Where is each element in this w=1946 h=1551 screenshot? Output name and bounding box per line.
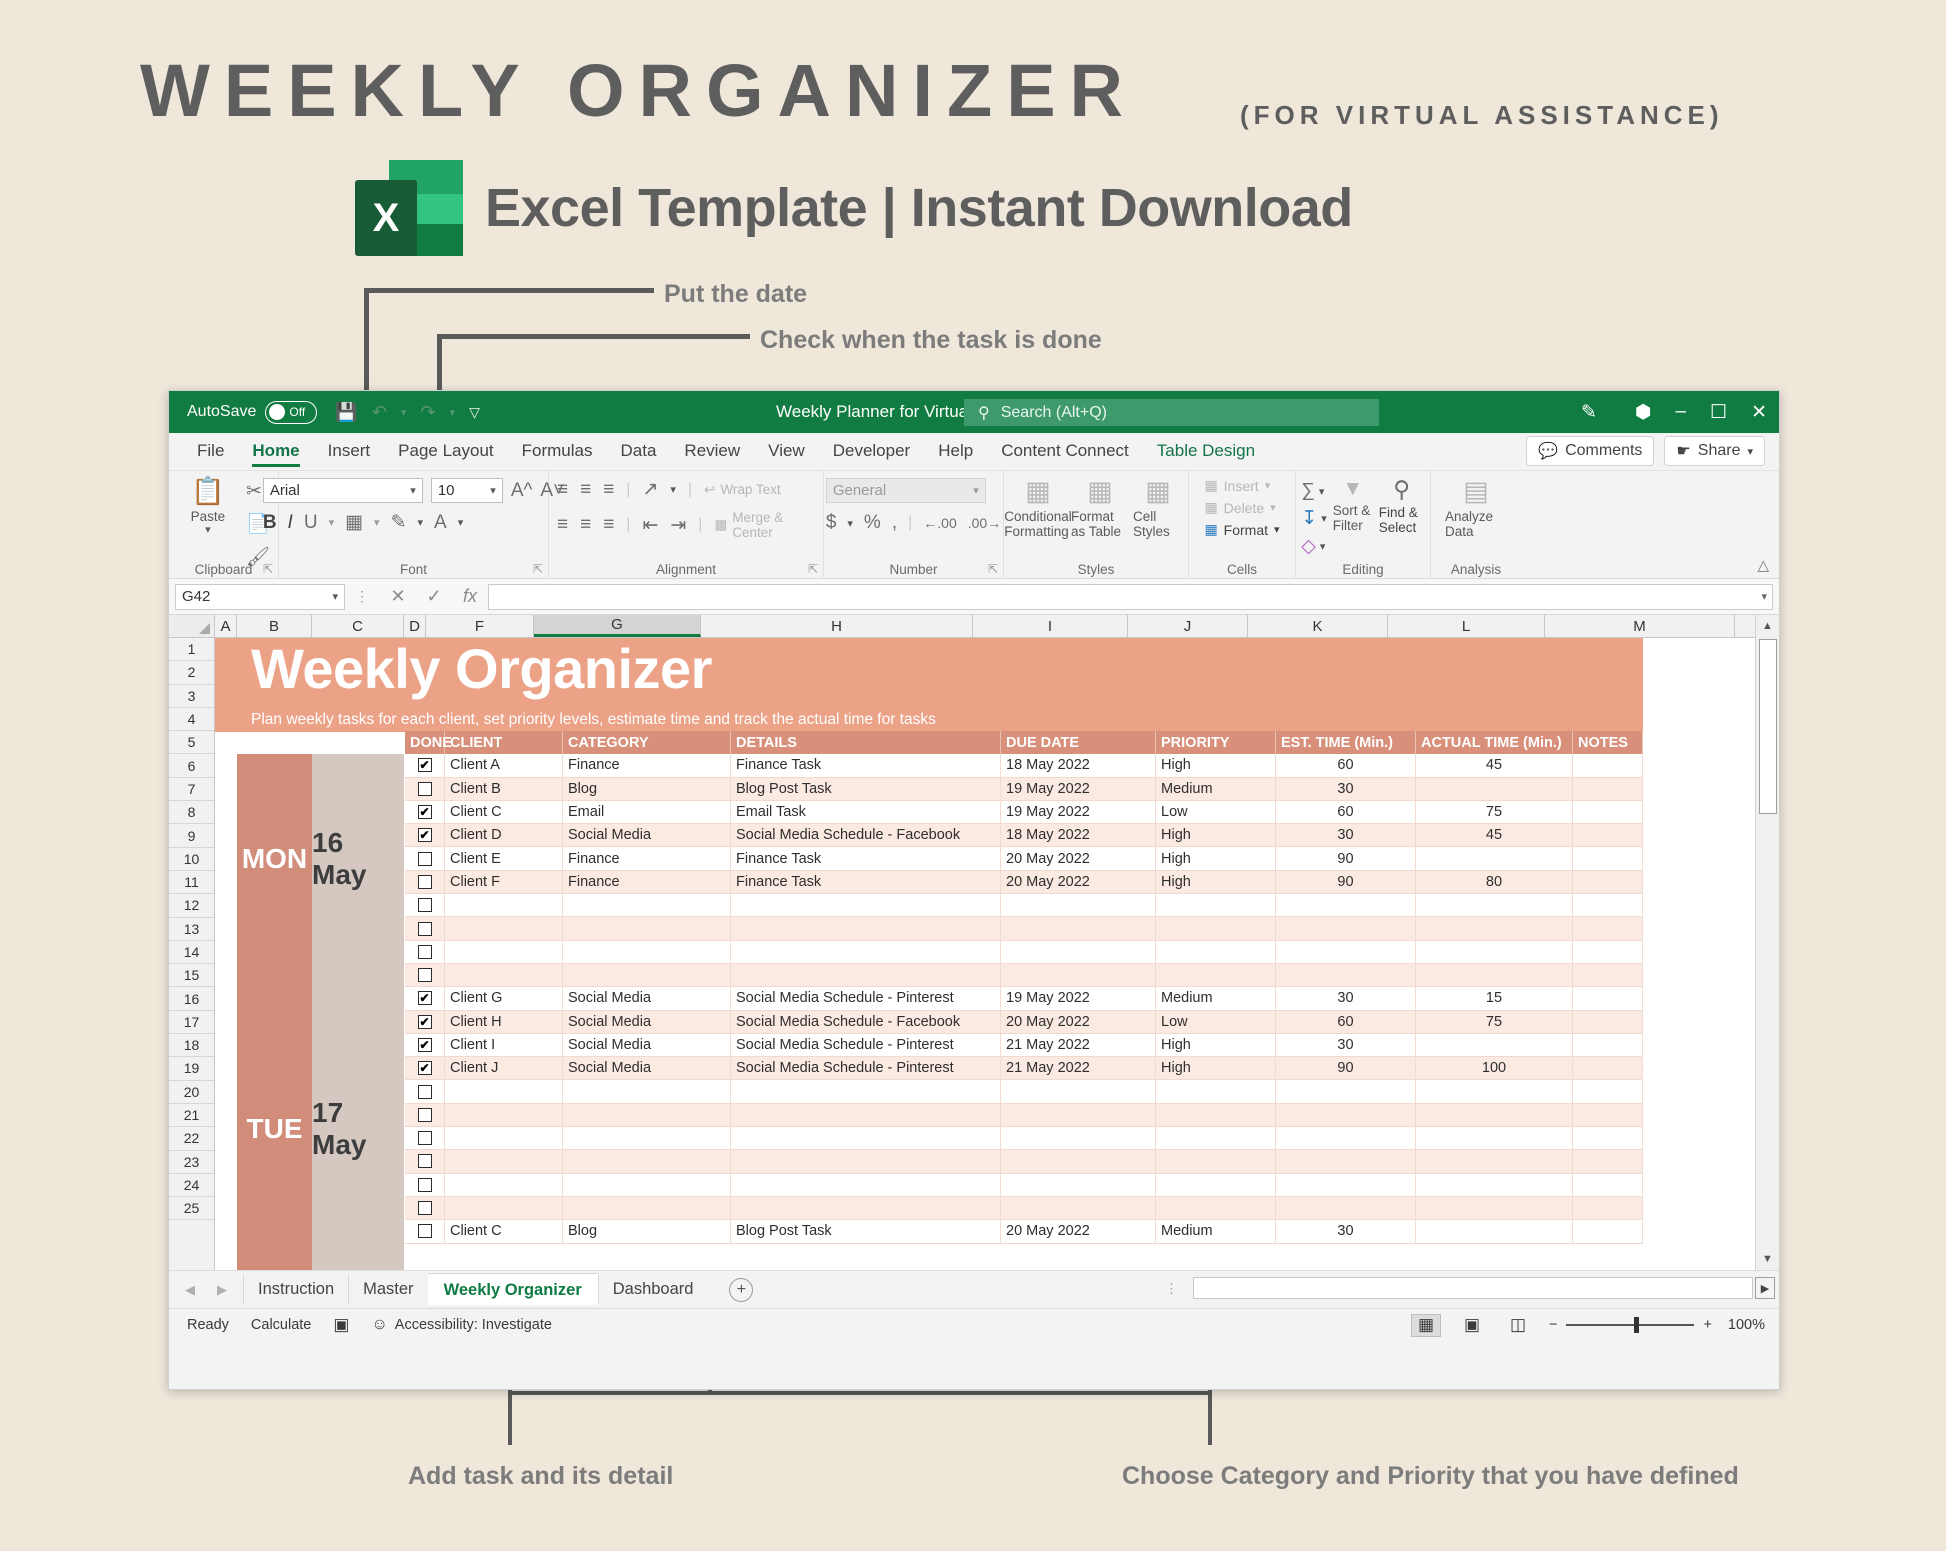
cell-due[interactable]: 18 May 2022 xyxy=(1001,824,1156,846)
column-header-I[interactable]: I xyxy=(973,615,1128,637)
cell-priority[interactable] xyxy=(1156,1150,1276,1172)
cell-est[interactable] xyxy=(1276,1080,1416,1102)
clear-dropdown-icon[interactable]: ▾ xyxy=(1320,540,1326,553)
row-header-10[interactable]: 10 xyxy=(169,848,214,871)
cell-notes[interactable] xyxy=(1573,1197,1643,1219)
cell-due[interactable]: 20 May 2022 xyxy=(1001,1011,1156,1033)
column-header-L[interactable]: L xyxy=(1388,615,1545,637)
cell-actual[interactable] xyxy=(1416,894,1573,916)
cell-est[interactable] xyxy=(1276,1174,1416,1196)
table-row[interactable]: Client EFinanceFinance Task20 May 2022Hi… xyxy=(405,847,1643,870)
record-macro-icon[interactable]: ▣ xyxy=(333,1315,349,1335)
cell-due[interactable] xyxy=(1001,964,1156,986)
merge-center-button[interactable]: ▩ Merge & Center xyxy=(714,510,815,540)
cell-client[interactable]: Client C xyxy=(445,1220,563,1242)
cell-actual[interactable] xyxy=(1416,964,1573,986)
cell-details[interactable] xyxy=(731,1197,1001,1219)
cell-priority[interactable] xyxy=(1156,1127,1276,1149)
cell-est[interactable] xyxy=(1276,1127,1416,1149)
cell-actual[interactable]: 45 xyxy=(1416,824,1573,846)
row-header-17[interactable]: 17 xyxy=(169,1011,214,1034)
done-checkbox-cell[interactable] xyxy=(405,894,445,916)
enter-icon[interactable]: ✓ xyxy=(416,586,452,607)
table-row[interactable]: Client FFinanceFinance Task20 May 2022Hi… xyxy=(405,871,1643,894)
cell-actual[interactable] xyxy=(1416,1197,1573,1219)
cell-actual[interactable] xyxy=(1416,1034,1573,1056)
search-input[interactable]: ⚲ Search (Alt+Q) xyxy=(964,399,1379,426)
zoom-track[interactable] xyxy=(1566,1324,1694,1326)
cell-category[interactable]: Email xyxy=(563,801,731,823)
cell-client[interactable] xyxy=(445,1127,563,1149)
italic-button[interactable]: I xyxy=(288,512,293,534)
row-header-13[interactable]: 13 xyxy=(169,918,214,941)
decrease-indent-icon[interactable]: ⇤ xyxy=(642,514,658,537)
underline-dropdown-icon[interactable]: ▾ xyxy=(329,516,335,529)
col-head-notes[interactable]: NOTES xyxy=(1573,731,1643,754)
clear-icon[interactable]: ◇ xyxy=(1301,535,1316,558)
cell-category[interactable] xyxy=(563,964,731,986)
cell-styles-button[interactable]: ▦ Cell Styles xyxy=(1133,478,1183,539)
done-checkbox-cell[interactable]: ✔ xyxy=(405,801,445,823)
cell-est[interactable]: 60 xyxy=(1276,754,1416,776)
column-header-B[interactable]: B xyxy=(237,615,312,637)
tab-view[interactable]: View xyxy=(754,437,819,470)
tab-review[interactable]: Review xyxy=(670,437,754,470)
cell-priority[interactable]: High xyxy=(1156,1057,1276,1079)
cell-notes[interactable] xyxy=(1573,801,1643,823)
align-top-icon[interactable]: ≡ xyxy=(557,479,568,501)
checkbox-unchecked-icon[interactable] xyxy=(418,1085,432,1099)
checkbox-unchecked-icon[interactable] xyxy=(418,922,432,936)
insert-cells-button[interactable]: ▦ Insert ▾ xyxy=(1204,477,1270,494)
increase-decimal-icon[interactable]: ←.00 xyxy=(923,515,956,531)
tab-data[interactable]: Data xyxy=(607,437,671,470)
cell-priority[interactable]: Low xyxy=(1156,1011,1276,1033)
done-checkbox-cell[interactable] xyxy=(405,1104,445,1126)
row-header-9[interactable]: 9 xyxy=(169,824,214,847)
checkbox-checked-icon[interactable]: ✔ xyxy=(418,1061,432,1075)
cell-due[interactable]: 20 May 2022 xyxy=(1001,1220,1156,1242)
minimize-button[interactable]: – xyxy=(1675,401,1686,423)
done-checkbox-cell[interactable] xyxy=(405,1174,445,1196)
row-header-24[interactable]: 24 xyxy=(169,1174,214,1197)
cell-priority[interactable]: Medium xyxy=(1156,987,1276,1009)
cell-client[interactable]: Client A xyxy=(445,754,563,776)
cell-client[interactable] xyxy=(445,1080,563,1102)
checkbox-checked-icon[interactable]: ✔ xyxy=(418,1038,432,1052)
table-row[interactable]: ✔Client ISocial MediaSocial Media Schedu… xyxy=(405,1034,1643,1057)
underline-button[interactable]: U xyxy=(304,512,318,534)
cell-priority[interactable]: Medium xyxy=(1156,1220,1276,1242)
col-head-priority[interactable]: PRIORITY xyxy=(1156,731,1276,754)
cell-priority[interactable]: High xyxy=(1156,824,1276,846)
cell-client[interactable] xyxy=(445,941,563,963)
cell-notes[interactable] xyxy=(1573,1174,1643,1196)
cell-priority[interactable]: Low xyxy=(1156,801,1276,823)
cell-actual[interactable]: 45 xyxy=(1416,754,1573,776)
checkbox-unchecked-icon[interactable] xyxy=(418,1201,432,1215)
cell-priority[interactable] xyxy=(1156,917,1276,939)
col-head-category[interactable]: CATEGORY xyxy=(563,731,731,754)
cell-actual[interactable]: 80 xyxy=(1416,871,1573,893)
select-all-corner[interactable] xyxy=(169,615,215,637)
cell-client[interactable]: Client C xyxy=(445,801,563,823)
checkbox-unchecked-icon[interactable] xyxy=(418,1178,432,1192)
cell-category[interactable] xyxy=(563,1174,731,1196)
cell-notes[interactable] xyxy=(1573,1220,1643,1242)
cell-category[interactable] xyxy=(563,917,731,939)
cell-est[interactable]: 30 xyxy=(1276,1034,1416,1056)
formula-bar-expand-icon[interactable]: ▾ xyxy=(1761,590,1767,603)
scroll-down-icon[interactable]: ▼ xyxy=(1756,1248,1779,1270)
done-checkbox-cell[interactable] xyxy=(405,871,445,893)
autosave-switch[interactable]: Off xyxy=(265,401,317,424)
checkbox-checked-icon[interactable]: ✔ xyxy=(418,1015,432,1029)
share-button[interactable]: ☛ Share ▾ xyxy=(1664,436,1765,466)
cell-client[interactable]: Client H xyxy=(445,1011,563,1033)
table-row[interactable] xyxy=(405,1080,1643,1103)
cell-notes[interactable] xyxy=(1573,1127,1643,1149)
increase-font-size-icon[interactable]: A^ xyxy=(511,480,533,502)
cell-details[interactable]: Finance Task xyxy=(731,871,1001,893)
cell-details[interactable] xyxy=(731,941,1001,963)
cell-notes[interactable] xyxy=(1573,1150,1643,1172)
tab-developer[interactable]: Developer xyxy=(819,437,925,470)
wrap-text-button[interactable]: ↩ Wrap Text xyxy=(704,482,781,498)
sheet-tab-weekly-organizer[interactable]: Weekly Organizer xyxy=(428,1274,598,1305)
sheet-tab-master[interactable]: Master xyxy=(348,1275,427,1304)
delete-cells-button[interactable]: ▦ Delete ▾ xyxy=(1204,499,1275,516)
column-header-J[interactable]: J xyxy=(1128,615,1248,637)
row-header-16[interactable]: 16 xyxy=(169,987,214,1010)
cell-client[interactable]: Client E xyxy=(445,847,563,869)
cell-client[interactable] xyxy=(445,1104,563,1126)
cell-details[interactable]: Social Media Schedule - Facebook xyxy=(731,824,1001,846)
collapse-ribbon-icon[interactable]: △ xyxy=(1757,556,1769,574)
cell-category[interactable]: Social Media xyxy=(563,1057,731,1079)
cell-category[interactable]: Social Media xyxy=(563,1034,731,1056)
share-dropdown-icon[interactable]: ▾ xyxy=(1747,445,1753,458)
cell-priority[interactable] xyxy=(1156,1080,1276,1102)
format-cells-button[interactable]: ▦ Format ▾ xyxy=(1204,521,1279,538)
row-header-8[interactable]: 8 xyxy=(169,801,214,824)
cell-est[interactable]: 90 xyxy=(1276,871,1416,893)
font-color-icon[interactable]: A xyxy=(434,512,447,534)
cell-client[interactable] xyxy=(445,1197,563,1219)
table-row[interactable] xyxy=(405,1104,1643,1127)
cell-details[interactable] xyxy=(731,1080,1001,1102)
checkbox-checked-icon[interactable]: ✔ xyxy=(418,805,432,819)
pen-icon[interactable]: ✎ xyxy=(1581,401,1597,424)
accessibility-status[interactable]: ☺ Accessibility: Investigate xyxy=(371,1316,552,1334)
find-select-button[interactable]: ⚲ Find & Select xyxy=(1379,478,1425,535)
cell-priority[interactable]: High xyxy=(1156,847,1276,869)
done-checkbox-cell[interactable] xyxy=(405,847,445,869)
cell-due[interactable]: 20 May 2022 xyxy=(1001,871,1156,893)
table-row[interactable]: ✔Client DSocial MediaSocial Media Schedu… xyxy=(405,824,1643,847)
table-row[interactable]: ✔Client HSocial MediaSocial Media Schedu… xyxy=(405,1011,1643,1034)
table-row[interactable]: ✔Client AFinanceFinance Task18 May 2022H… xyxy=(405,754,1643,777)
currency-dropdown-icon[interactable]: ▾ xyxy=(847,517,853,530)
cell-est[interactable] xyxy=(1276,1104,1416,1126)
undo-icon[interactable]: ↶ xyxy=(372,402,387,423)
cell-details[interactable]: Email Task xyxy=(731,801,1001,823)
cell-details[interactable] xyxy=(731,1127,1001,1149)
cell-category[interactable] xyxy=(563,1080,731,1102)
table-row[interactable] xyxy=(405,1127,1643,1150)
page-layout-view-icon[interactable]: ▣ xyxy=(1457,1314,1487,1337)
cell-est[interactable]: 30 xyxy=(1276,987,1416,1009)
qat-more-icon[interactable]: ▽ xyxy=(469,404,480,421)
cell-category[interactable]: Finance xyxy=(563,871,731,893)
row-header-3[interactable]: 3 xyxy=(169,685,214,708)
paste-dropdown-icon[interactable]: ▾ xyxy=(205,524,211,536)
cell-category[interactable]: Social Media xyxy=(563,1011,731,1033)
scroll-up-icon[interactable]: ▲ xyxy=(1756,615,1779,637)
align-right-icon[interactable]: ≡ xyxy=(603,514,614,536)
cell-est[interactable]: 60 xyxy=(1276,801,1416,823)
cell-category[interactable] xyxy=(563,941,731,963)
align-bottom-icon[interactable]: ≡ xyxy=(603,479,614,501)
column-header-G[interactable]: G xyxy=(534,615,701,637)
sheet-nav-next-icon[interactable]: ▶ xyxy=(217,1282,227,1298)
cell-details[interactable] xyxy=(731,1104,1001,1126)
checkbox-unchecked-icon[interactable] xyxy=(418,1131,432,1145)
sheet-nav-arrows[interactable]: ◀ ▶ xyxy=(169,1282,243,1298)
cell-category[interactable] xyxy=(563,1150,731,1172)
row-header-11[interactable]: 11 xyxy=(169,871,214,894)
cell-notes[interactable] xyxy=(1573,894,1643,916)
formula-bar-handle[interactable]: ⋮ xyxy=(355,588,370,605)
checkbox-unchecked-icon[interactable] xyxy=(418,1224,432,1238)
alignment-dialog-launcher-icon[interactable]: ⇱ xyxy=(808,562,818,576)
number-dialog-launcher-icon[interactable]: ⇱ xyxy=(988,562,998,576)
format-as-table-button[interactable]: ▦ Format as Table xyxy=(1071,478,1129,539)
paste-button[interactable]: 📋 Paste ▾ xyxy=(177,478,239,536)
tab-formulas[interactable]: Formulas xyxy=(508,437,607,470)
col-head-details[interactable]: DETAILS xyxy=(731,731,1001,754)
cell-est[interactable] xyxy=(1276,1197,1416,1219)
cell-category[interactable]: Social Media xyxy=(563,987,731,1009)
cell-actual[interactable] xyxy=(1416,847,1573,869)
cell-due[interactable] xyxy=(1001,1197,1156,1219)
cell-category[interactable]: Blog xyxy=(563,778,731,800)
cell-category[interactable] xyxy=(563,1127,731,1149)
autosave-toggle[interactable]: AutoSave Off xyxy=(187,401,317,424)
cell-due[interactable] xyxy=(1001,1150,1156,1172)
cell-due[interactable]: 19 May 2022 xyxy=(1001,987,1156,1009)
checkbox-unchecked-icon[interactable] xyxy=(418,968,432,982)
row-header-25[interactable]: 25 xyxy=(169,1197,214,1220)
row-header-7[interactable]: 7 xyxy=(169,778,214,801)
row-header-19[interactable]: 19 xyxy=(169,1057,214,1080)
vertical-scrollbar[interactable]: ▲ ▼ xyxy=(1755,615,1779,1270)
cell-client[interactable]: Client I xyxy=(445,1034,563,1056)
done-checkbox-cell[interactable]: ✔ xyxy=(405,1057,445,1079)
done-checkbox-cell[interactable] xyxy=(405,917,445,939)
table-row[interactable] xyxy=(405,917,1643,940)
autosum-dropdown-icon[interactable]: ▾ xyxy=(1319,485,1325,498)
cell-notes[interactable] xyxy=(1573,1057,1643,1079)
cell-est[interactable]: 90 xyxy=(1276,1057,1416,1079)
cell-est[interactable]: 30 xyxy=(1276,1220,1416,1242)
cell-details[interactable]: Finance Task xyxy=(731,754,1001,776)
tab-home[interactable]: Home xyxy=(238,437,313,470)
cell-priority[interactable]: High xyxy=(1156,1034,1276,1056)
borders-dropdown-icon[interactable]: ▾ xyxy=(374,516,380,529)
fill-icon[interactable]: ↧ xyxy=(1301,507,1317,530)
table-row[interactable] xyxy=(405,894,1643,917)
cell-client[interactable] xyxy=(445,917,563,939)
cell-notes[interactable] xyxy=(1573,847,1643,869)
conditional-formatting-button[interactable]: ▦ Conditional Formatting xyxy=(1009,478,1067,539)
sheet-tab-dashboard[interactable]: Dashboard xyxy=(598,1275,708,1304)
tab-page-layout[interactable]: Page Layout xyxy=(384,437,507,470)
checkbox-unchecked-icon[interactable] xyxy=(418,945,432,959)
col-head-due-date[interactable]: DUE DATE xyxy=(1001,731,1156,754)
currency-icon[interactable]: $ xyxy=(826,512,837,534)
font-dialog-launcher-icon[interactable]: ⇱ xyxy=(533,562,543,576)
horizontal-scroll-handle[interactable]: ⋮ xyxy=(1165,1281,1179,1297)
table-row[interactable] xyxy=(405,1174,1643,1197)
cell-category[interactable] xyxy=(563,1197,731,1219)
cell-notes[interactable] xyxy=(1573,754,1643,776)
row-header-2[interactable]: 2 xyxy=(169,661,214,684)
cell-notes[interactable] xyxy=(1573,1011,1643,1033)
comments-button[interactable]: 💬 Comments xyxy=(1526,436,1654,466)
row-header-12[interactable]: 12 xyxy=(169,894,214,917)
cell-details[interactable]: Blog Post Task xyxy=(731,1220,1001,1242)
cell-client[interactable]: Client J xyxy=(445,1057,563,1079)
done-checkbox-cell[interactable]: ✔ xyxy=(405,824,445,846)
table-row[interactable]: Client BBlogBlog Post Task19 May 2022Med… xyxy=(405,778,1643,801)
align-left-icon[interactable]: ≡ xyxy=(557,514,568,536)
cell-category[interactable]: Social Media xyxy=(563,824,731,846)
row-header-21[interactable]: 21 xyxy=(169,1104,214,1127)
cell-client[interactable] xyxy=(445,1150,563,1172)
cell-notes[interactable] xyxy=(1573,1104,1643,1126)
cell-est[interactable]: 30 xyxy=(1276,778,1416,800)
row-header-1[interactable]: 1 xyxy=(169,638,214,661)
table-row[interactable] xyxy=(405,1197,1643,1220)
fill-color-dropdown-icon[interactable]: ▾ xyxy=(418,516,424,529)
table-row[interactable] xyxy=(405,964,1643,987)
table-row[interactable]: ✔Client CEmailEmail Task19 May 2022Low60… xyxy=(405,801,1643,824)
checkbox-checked-icon[interactable]: ✔ xyxy=(418,828,432,842)
cell-est[interactable]: 60 xyxy=(1276,1011,1416,1033)
table-row[interactable]: Client CBlogBlog Post Task20 May 2022Med… xyxy=(405,1220,1643,1243)
cell-details[interactable]: Finance Task xyxy=(731,847,1001,869)
redo-dropdown-icon[interactable]: ▾ xyxy=(450,406,456,419)
name-box[interactable]: G42 ▾ xyxy=(175,584,345,610)
page-break-view-icon[interactable]: ◫ xyxy=(1503,1314,1533,1337)
cell-category[interactable]: Finance xyxy=(563,754,731,776)
cell-due[interactable] xyxy=(1001,941,1156,963)
cell-est[interactable] xyxy=(1276,917,1416,939)
zoom-thumb[interactable] xyxy=(1634,1317,1639,1333)
cell-priority[interactable]: High xyxy=(1156,871,1276,893)
increase-indent-icon[interactable]: ⇥ xyxy=(670,514,686,537)
cell-category[interactable] xyxy=(563,894,731,916)
done-checkbox-cell[interactable] xyxy=(405,778,445,800)
cell-actual[interactable] xyxy=(1416,1150,1573,1172)
table-row[interactable]: ✔Client JSocial MediaSocial Media Schedu… xyxy=(405,1057,1643,1080)
day-block-mon[interactable]: MON 16 May xyxy=(237,754,404,964)
cell-due[interactable] xyxy=(1001,894,1156,916)
cell-due[interactable] xyxy=(1001,1174,1156,1196)
horizontal-scroll-right-icon[interactable]: ▶ xyxy=(1755,1277,1775,1299)
column-header-A[interactable]: A xyxy=(215,615,237,637)
tab-file[interactable]: File xyxy=(183,437,238,470)
cell-details[interactable]: Social Media Schedule - Pinterest xyxy=(731,1057,1001,1079)
done-checkbox-cell[interactable] xyxy=(405,1150,445,1172)
cell-due[interactable] xyxy=(1001,1080,1156,1102)
done-checkbox-cell[interactable]: ✔ xyxy=(405,987,445,1009)
day-block-tue[interactable]: TUE 17 May xyxy=(237,964,404,1270)
table-row[interactable] xyxy=(405,1150,1643,1173)
orientation-icon[interactable]: ↗ xyxy=(642,478,658,501)
cell-priority[interactable] xyxy=(1156,1174,1276,1196)
cell-priority[interactable] xyxy=(1156,964,1276,986)
cell-details[interactable] xyxy=(731,1174,1001,1196)
close-button[interactable]: ✕ xyxy=(1751,401,1767,424)
cell-est[interactable]: 30 xyxy=(1276,824,1416,846)
fill-dropdown-icon[interactable]: ▾ xyxy=(1321,512,1327,525)
analyze-data-button[interactable]: ▤ Analyze Data xyxy=(1445,478,1507,539)
column-header-C[interactable]: C xyxy=(312,615,404,637)
formula-input[interactable] xyxy=(488,584,1773,610)
font-color-dropdown-icon[interactable]: ▾ xyxy=(458,516,464,529)
column-header-H[interactable]: H xyxy=(701,615,973,637)
row-header-15[interactable]: 15 xyxy=(169,964,214,987)
cell-actual[interactable] xyxy=(1416,1127,1573,1149)
tab-help[interactable]: Help xyxy=(924,437,987,470)
undo-dropdown-icon[interactable]: ▾ xyxy=(401,406,407,419)
cell-due[interactable]: 19 May 2022 xyxy=(1001,778,1156,800)
sheet-nav-prev-icon[interactable]: ◀ xyxy=(185,1282,195,1298)
clipboard-dialog-launcher-icon[interactable]: ⇱ xyxy=(263,562,273,576)
cell-actual[interactable] xyxy=(1416,941,1573,963)
cell-notes[interactable] xyxy=(1573,778,1643,800)
sheet-tab-instruction[interactable]: Instruction xyxy=(243,1275,348,1304)
number-format-select[interactable]: General ▾ xyxy=(826,478,986,503)
cell-category[interactable]: Blog xyxy=(563,1220,731,1242)
cell-due[interactable] xyxy=(1001,1104,1156,1126)
insert-function-icon[interactable]: fx xyxy=(452,586,488,607)
row-header-5[interactable]: 5 xyxy=(169,731,214,754)
done-checkbox-cell[interactable] xyxy=(405,941,445,963)
column-header-M[interactable]: M xyxy=(1545,615,1735,637)
cell-priority[interactable] xyxy=(1156,941,1276,963)
zoom-in-button[interactable]: + xyxy=(1703,1317,1711,1333)
checkbox-unchecked-icon[interactable] xyxy=(418,1108,432,1122)
column-header-D[interactable]: D xyxy=(404,615,426,637)
cell-client[interactable]: Client F xyxy=(445,871,563,893)
cell-details[interactable]: Social Media Schedule - Pinterest xyxy=(731,987,1001,1009)
ribbon-display-icon[interactable]: ⬢ xyxy=(1635,401,1652,424)
done-checkbox-cell[interactable] xyxy=(405,1127,445,1149)
cell-est[interactable] xyxy=(1276,964,1416,986)
cell-actual[interactable]: 75 xyxy=(1416,801,1573,823)
tab-content-connect[interactable]: Content Connect xyxy=(987,437,1143,470)
col-head-est-time[interactable]: EST. TIME (Min.) xyxy=(1276,731,1416,754)
cancel-icon[interactable]: ✕ xyxy=(380,586,416,607)
cell-category[interactable]: Finance xyxy=(563,847,731,869)
tab-insert[interactable]: Insert xyxy=(314,437,385,470)
cell-notes[interactable] xyxy=(1573,987,1643,1009)
cell-client[interactable]: Client B xyxy=(445,778,563,800)
col-head-done[interactable]: DONE xyxy=(405,731,445,754)
